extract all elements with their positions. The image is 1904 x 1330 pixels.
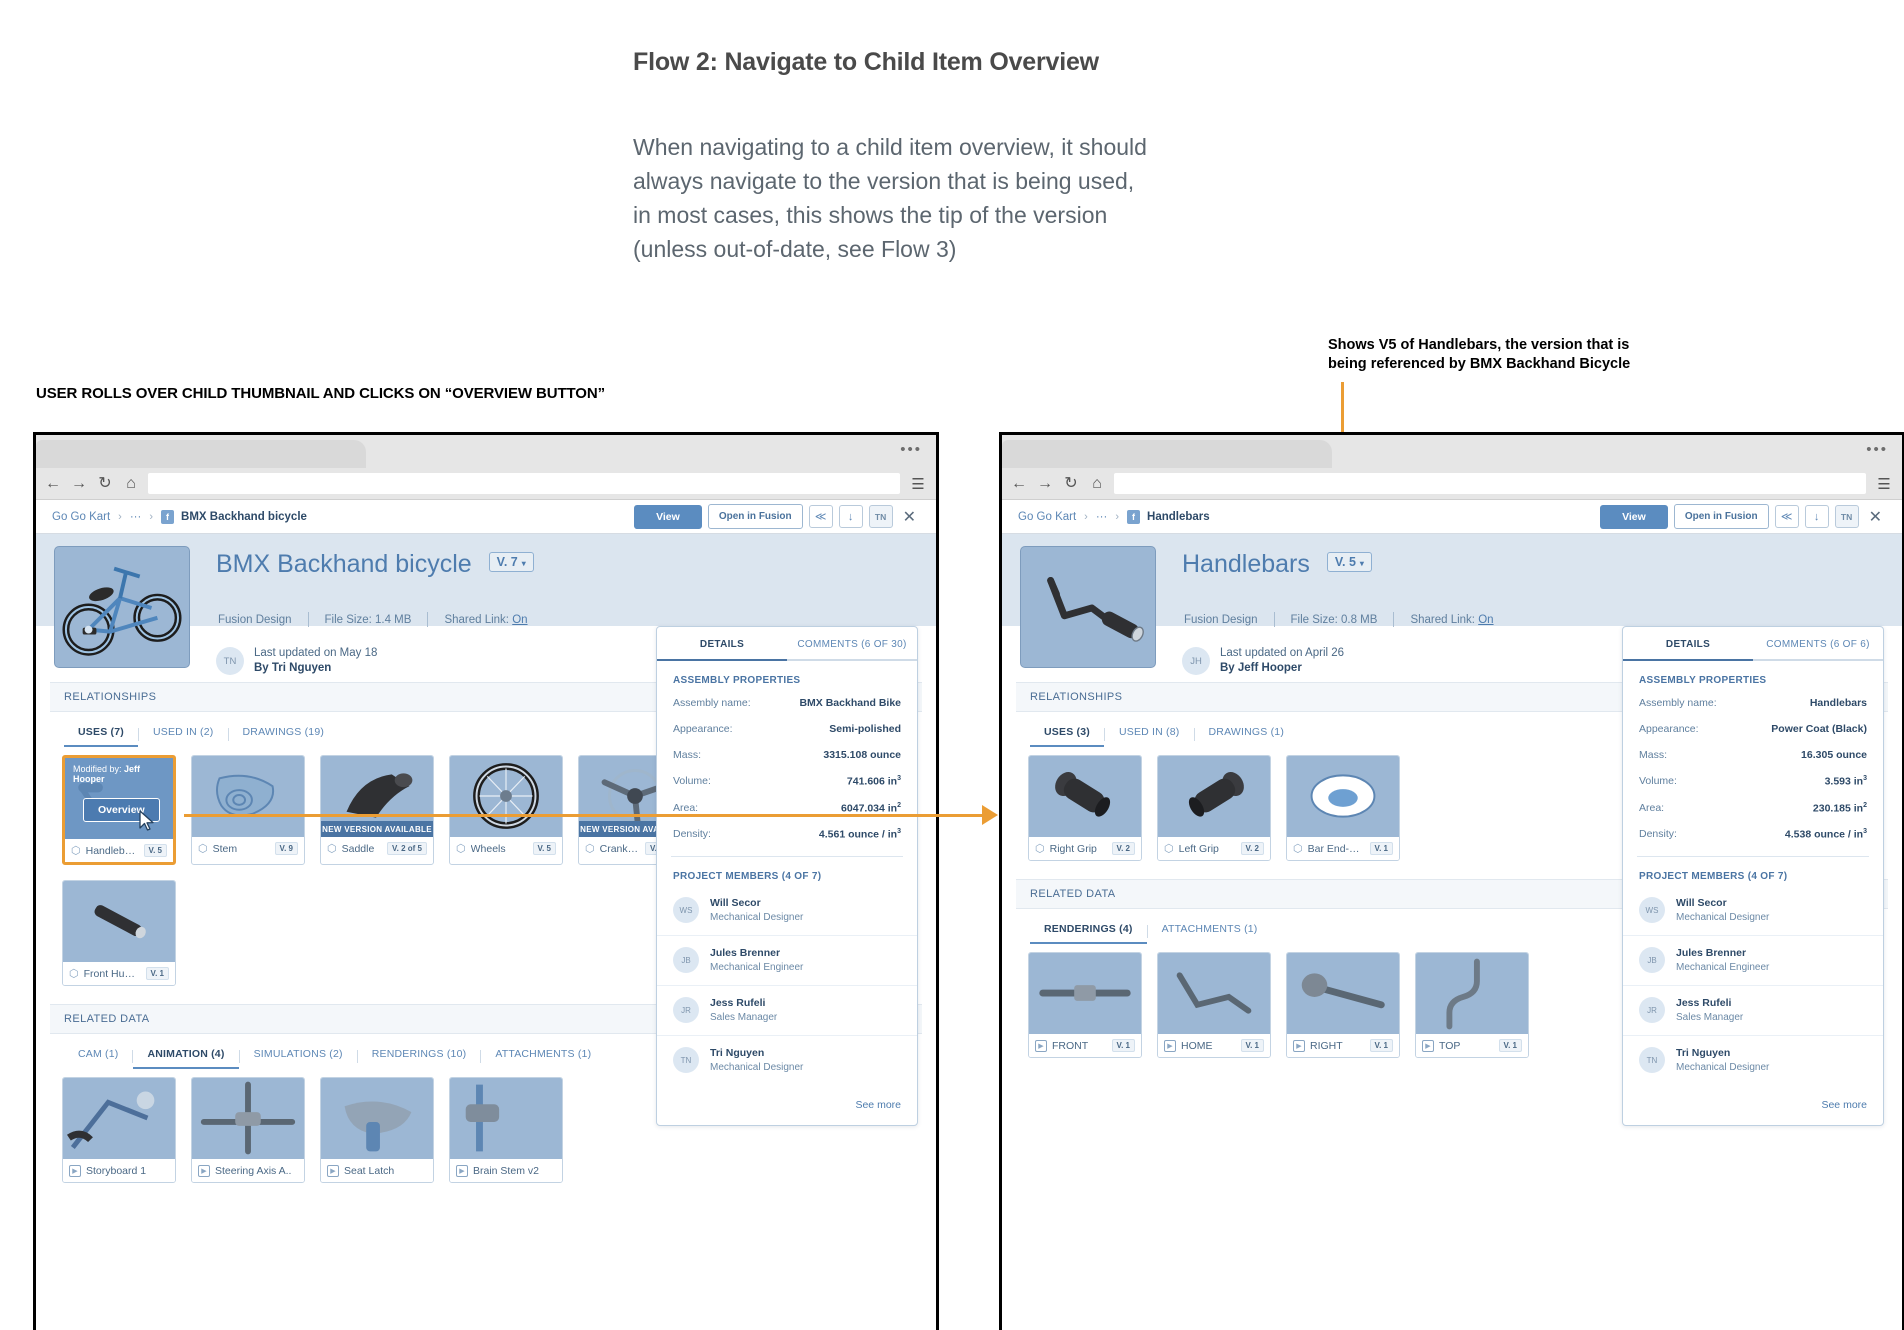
member-name: Tri Nguyen	[710, 1046, 803, 1061]
card-thumbnail	[450, 756, 562, 837]
window-controls-dots[interactable]: •••	[900, 446, 922, 454]
part-illustration	[192, 756, 304, 837]
card-name: Wheels	[471, 843, 528, 855]
document-title-row-right: Handlebars V. 5▾	[1182, 550, 1372, 579]
design-type: Fusion Design	[218, 614, 292, 626]
member-role: Mechanical Engineer	[1676, 961, 1769, 975]
browser-chrome-tabstrip: •••	[36, 435, 936, 468]
cube-icon: ⬡	[1164, 842, 1174, 855]
browser-toolbar-right: ← → ↻ ⌂ ☰	[1002, 468, 1902, 500]
card-name: Left Grip	[1179, 843, 1236, 855]
card-thumbnail	[1158, 756, 1270, 837]
card-version-badge: V. 1	[1112, 1039, 1136, 1052]
breadcrumb-separator: ›	[118, 511, 122, 523]
card-version-badge: V. 1	[1499, 1039, 1523, 1052]
breadcrumb-separator-2: ›	[149, 511, 153, 523]
card-caption: ⬡WheelsV. 5	[450, 837, 562, 860]
page-description: When navigating to a child item overview…	[633, 130, 1147, 266]
card-version-badge: V. 2 of 5	[387, 842, 427, 855]
property-row: Appearance:Power Coat (Black)	[1623, 716, 1883, 742]
address-bar[interactable]	[148, 473, 900, 494]
play-icon: ▶	[69, 1165, 81, 1177]
document-title: BMX Backhand bicycle	[216, 550, 472, 578]
play-icon: ▶	[1164, 1040, 1176, 1052]
property-key: Appearance:	[1639, 723, 1699, 735]
version-label: V. 5	[1335, 555, 1356, 569]
breadcrumb-right: Go Go Kart › ··· › f Handlebars View Ope…	[1002, 500, 1902, 534]
child-card[interactable]: ⬡Right GripV. 2	[1028, 755, 1142, 861]
details-tab[interactable]: COMMENTS (6 OF 6)	[1753, 627, 1883, 659]
download-icon[interactable]: ↓	[839, 505, 863, 528]
card-name: FRONT	[1052, 1040, 1107, 1052]
part-illustration	[192, 1078, 304, 1159]
last-updated-row-right: JH Last updated on April 26 By Jeff Hoop…	[1182, 646, 1344, 676]
forward-icon[interactable]: →	[1032, 476, 1058, 492]
card-version-badge: V. 1	[1241, 1039, 1265, 1052]
browser-toolbar: ← → ↻ ⌂ ☰	[36, 468, 936, 500]
updated-author: By Jeff Hooper	[1220, 662, 1302, 674]
member-role: Sales Manager	[710, 1011, 777, 1025]
version-label: V. 7	[497, 555, 518, 569]
address-bar[interactable]	[1114, 473, 1866, 494]
file-meta-row-right: Fusion Design File Size: 0.8 MB Shared L…	[1184, 612, 1494, 627]
browser-window-right: ••• ← → ↻ ⌂ ☰ Go Go Kart › ··· › f Handl…	[999, 432, 1904, 1330]
close-icon[interactable]: ✕	[899, 507, 920, 527]
details-tabs-right: DETAILSCOMMENTS (6 OF 6)	[1623, 627, 1883, 661]
card-caption: ⬡SaddleV. 2 of 5	[321, 837, 433, 860]
breadcrumb-separator-2: ›	[1115, 511, 1119, 523]
card-caption: ▶HOMEV. 1	[1158, 1034, 1270, 1057]
play-icon: ▶	[1035, 1040, 1047, 1052]
open-in-fusion-button[interactable]: Open in Fusion	[1674, 504, 1769, 529]
home-icon[interactable]: ⌂	[1084, 476, 1110, 492]
card-thumbnail: NEW VERSION AVAILABLE	[321, 756, 433, 837]
project-members-list: WSWill SecorMechanical DesignerJBJules B…	[1623, 886, 1883, 1085]
member-row[interactable]: JBJules BrennerMechanical Engineer	[657, 936, 917, 986]
related-data-label: RELATED DATA	[64, 1013, 149, 1025]
details-tab[interactable]: DETAILS	[1623, 627, 1753, 661]
updated-date: Last updated on May 18	[254, 646, 377, 661]
part-illustration	[1029, 953, 1141, 1034]
card-thumbnail	[63, 1078, 175, 1159]
property-value: 16.305 ounce	[1801, 749, 1867, 761]
page-body: BMX Backhand bicycle V. 7▾ Fusion Design…	[36, 534, 936, 1330]
property-row: Appearance:Semi-polished	[657, 716, 917, 742]
flow-connector-arrow	[982, 805, 998, 825]
fusion-file-icon: f	[161, 510, 174, 524]
card-thumbnail	[192, 756, 304, 837]
child-card[interactable]: ▶TOPV. 1	[1415, 952, 1529, 1058]
part-illustration	[1029, 756, 1141, 837]
relationships-tab[interactable]: USES (3)	[1030, 722, 1104, 747]
browser-tab[interactable]	[36, 440, 366, 468]
card-name: Steering Axis A..	[215, 1165, 298, 1177]
member-name: Jules Brenner	[1676, 946, 1769, 961]
card-name: Front Hub A..	[84, 968, 141, 980]
member-row[interactable]: JRJess RufeliSales Manager	[1623, 986, 1883, 1036]
part-illustration	[63, 1078, 175, 1159]
shared-link-toggle[interactable]: On	[512, 614, 527, 626]
part-illustration	[450, 756, 562, 837]
shared-link-label: Shared Link:	[1410, 614, 1475, 626]
breadcrumb-ellipsis[interactable]: ···	[130, 511, 142, 523]
part-illustration	[1287, 953, 1399, 1034]
property-value: Power Coat (Black)	[1771, 723, 1867, 735]
card-thumbnail	[1029, 756, 1141, 837]
card-name: Seat Latch	[344, 1165, 427, 1177]
property-key: Assembly name:	[673, 697, 751, 709]
card-name: HOME	[1181, 1040, 1236, 1052]
new-version-badge: NEW VERSION AVAILABLE	[321, 821, 433, 837]
child-card[interactable]: ▶RIGHTV. 1	[1286, 952, 1400, 1058]
member-row[interactable]: WSWill SecorMechanical Designer	[1623, 886, 1883, 936]
member-name: Jess Rufeli	[1676, 996, 1743, 1011]
member-name: Will Secor	[710, 896, 803, 911]
cube-icon: ⬡	[456, 842, 466, 855]
reload-icon[interactable]: ↻	[1058, 476, 1084, 492]
member-row[interactable]: TNTri NguyenMechanical Designer	[1623, 1036, 1883, 1085]
fusion-file-icon: f	[1127, 510, 1140, 524]
chevron-down-icon: ▾	[1360, 559, 1364, 568]
card-name: Bar End-Caps	[1308, 843, 1365, 855]
property-value: Semi-polished	[829, 723, 901, 735]
cube-icon: ⬡	[585, 842, 595, 855]
assembly-properties-list: Assembly name:HandlebarsAppearance:Power…	[1623, 690, 1883, 848]
related-data-label: RELATED DATA	[1030, 888, 1115, 900]
related-data-tab[interactable]: CAM (1)	[64, 1044, 132, 1069]
breadcrumb: Go Go Kart › ··· › f BMX Backhand bicycl…	[36, 500, 936, 534]
member-row[interactable]: TNTri NguyenMechanical Designer	[657, 1036, 917, 1085]
member-row[interactable]: JRJess RufeliSales Manager	[657, 986, 917, 1036]
card-name: RIGHT	[1310, 1040, 1365, 1052]
assembly-properties-title: ASSEMBLY PROPERTIES	[1623, 661, 1883, 690]
property-key: Mass:	[673, 749, 701, 761]
part-illustration	[1416, 953, 1528, 1034]
card-caption: ⬡Right GripV. 2	[1029, 837, 1141, 860]
breadcrumb-root[interactable]: Go Go Kart	[1018, 511, 1076, 523]
property-key: Density:	[673, 828, 711, 841]
card-thumbnail	[1416, 953, 1528, 1034]
card-version-badge: V. 2	[1112, 842, 1136, 855]
card-caption: ⬡StemV. 9	[192, 837, 304, 860]
chevron-down-icon: ▾	[522, 559, 526, 568]
card-name: Handlebars	[86, 845, 139, 857]
member-avatar: WS	[1639, 897, 1665, 923]
part-illustration	[1287, 756, 1399, 837]
property-value: 4.538 ounce / in3	[1785, 828, 1867, 841]
breadcrumb-ellipsis[interactable]: ···	[1096, 511, 1108, 523]
property-key: Area:	[673, 802, 698, 815]
browser-menu-icon[interactable]: ☰	[904, 475, 932, 493]
part-illustration	[321, 1078, 433, 1159]
card-caption: ⬡Front Hub A..V. 1	[63, 962, 175, 985]
main-thumbnail[interactable]	[54, 546, 190, 668]
download-icon[interactable]: ↓	[1805, 505, 1829, 528]
card-caption: ▶TOPV. 1	[1416, 1034, 1528, 1057]
updated-avatar: JH	[1182, 647, 1210, 675]
card-thumbnail	[1029, 953, 1141, 1034]
shared-link-label: Shared Link:	[444, 614, 509, 626]
member-role: Mechanical Designer	[1676, 1061, 1769, 1075]
child-card[interactable]: ⬡WheelsV. 5	[449, 755, 563, 865]
relationships-tab[interactable]: DRAWINGS (19)	[229, 722, 339, 747]
child-card[interactable]: ▶Steering Axis A..	[191, 1077, 305, 1183]
cube-icon: ⬡	[71, 844, 81, 857]
property-row: Assembly name:BMX Backhand Bike	[657, 690, 917, 716]
see-more-link[interactable]: See more	[657, 1085, 917, 1125]
modified-by-label: Modified by: Jeff Hooper	[73, 764, 173, 784]
view-button[interactable]: View	[634, 505, 702, 529]
card-name: Crankset	[600, 843, 640, 855]
reload-icon[interactable]: ↻	[92, 476, 118, 492]
member-avatar: JR	[673, 997, 699, 1023]
card-name: Right Grip	[1050, 843, 1107, 855]
page-title: Flow 2: Navigate to Child Item Overview	[633, 48, 1099, 77]
cube-icon: ⬡	[327, 842, 337, 855]
card-name: Stem	[213, 843, 270, 855]
breadcrumb-root[interactable]: Go Go Kart	[52, 511, 110, 523]
card-name: TOP	[1439, 1040, 1494, 1052]
project-members-title: PROJECT MEMBERS (4 OF 7)	[657, 857, 917, 886]
child-card[interactable]: ▶FRONTV. 1	[1028, 952, 1142, 1058]
card-thumbnail: Modified by: Jeff HooperOverview	[65, 758, 173, 839]
related-data-tab[interactable]: SIMULATIONS (2)	[240, 1044, 357, 1069]
flow-connector-line	[184, 814, 990, 817]
member-role: Mechanical Engineer	[710, 961, 803, 975]
child-card[interactable]: NEW VERSION AVAILABLE⬡SaddleV. 2 of 5	[320, 755, 434, 865]
bicycle-illustration	[55, 547, 189, 667]
card-name: Saddle	[342, 843, 382, 855]
member-row[interactable]: JBJules BrennerMechanical Engineer	[1623, 936, 1883, 986]
property-key: Density:	[1639, 828, 1677, 841]
property-row: Volume:3.593 in3	[1623, 768, 1883, 795]
member-avatar: JB	[1639, 947, 1665, 973]
relationships-label: RELATIONSHIPS	[1030, 691, 1122, 703]
card-caption: ▶Seat Latch	[321, 1159, 433, 1182]
card-caption: ▶RIGHTV. 1	[1287, 1034, 1399, 1057]
card-thumbnail	[450, 1078, 562, 1159]
card-caption: ⬡Bar End-CapsV. 1	[1287, 837, 1399, 860]
updated-avatar: TN	[216, 647, 244, 675]
related-data-tab[interactable]: RENDERINGS (4)	[1030, 919, 1147, 944]
property-value: 3315.108 ounce	[823, 749, 901, 761]
browser-tab-right[interactable]	[1002, 440, 1332, 468]
child-card[interactable]: ▶Seat Latch	[320, 1077, 434, 1183]
close-icon[interactable]: ✕	[1865, 507, 1886, 527]
details-tab[interactable]: DETAILS	[657, 627, 787, 661]
avatar[interactable]: TN	[869, 505, 893, 528]
member-avatar: JB	[673, 947, 699, 973]
child-card[interactable]: ⬡Bar End-CapsV. 1	[1286, 755, 1400, 861]
breadcrumb-separator: ›	[1084, 511, 1088, 523]
child-card[interactable]: ⬡Front Hub A..V. 1	[62, 880, 176, 986]
member-avatar: JR	[1639, 997, 1665, 1023]
property-row: Assembly name:Handlebars	[1623, 690, 1883, 716]
member-avatar: TN	[673, 1047, 699, 1073]
property-row: Area:6047.034 in2	[657, 795, 917, 822]
part-illustration	[1158, 756, 1270, 837]
cube-icon: ⬡	[1293, 842, 1303, 855]
card-caption: ▶Steering Axis A..	[192, 1159, 304, 1182]
card-version-badge: V. 1	[1370, 842, 1394, 855]
related-data-tab[interactable]: ANIMATION (4)	[133, 1044, 238, 1069]
document-title-row: BMX Backhand bicycle V. 7▾	[216, 550, 534, 579]
card-version-badge: V. 1	[1370, 1039, 1394, 1052]
cube-icon: ⬡	[69, 967, 79, 980]
file-size: File Size: 1.4 MB	[325, 614, 412, 626]
property-row: Mass:3315.108 ounce	[657, 742, 917, 768]
view-button[interactable]: View	[1600, 505, 1668, 529]
browser-chrome-tabstrip-right: •••	[1002, 435, 1902, 468]
property-value: 4.561 ounce / in3	[819, 828, 901, 841]
child-card[interactable]: ▶Storyboard 1	[62, 1077, 176, 1183]
property-row: Density:4.561 ounce / in3	[657, 821, 917, 848]
updated-date: Last updated on April 26	[1220, 646, 1344, 661]
cube-icon: ⬡	[1035, 842, 1045, 855]
version-selector[interactable]: V. 5▾	[1327, 552, 1372, 572]
relationships-label: RELATIONSHIPS	[64, 691, 156, 703]
card-version-badge: V. 9	[275, 842, 299, 855]
relationships-tab[interactable]: USED IN (2)	[139, 722, 228, 747]
property-value: 3.593 in3	[1825, 775, 1867, 788]
file-size: File Size: 0.8 MB	[1291, 614, 1378, 626]
child-card[interactable]: ⬡StemV. 9	[191, 755, 305, 865]
child-card-hovered[interactable]: Modified by: Jeff HooperOverview⬡Handleb…	[62, 755, 176, 865]
property-key: Assembly name:	[1639, 697, 1717, 709]
property-key: Mass:	[1639, 749, 1667, 761]
back-icon[interactable]: ←	[1006, 476, 1032, 492]
mouse-cursor-icon	[139, 810, 155, 832]
project-members-list: WSWill SecorMechanical DesignerJBJules B…	[657, 886, 917, 1085]
last-updated-row: TN Last updated on May 18 By Tri Nguyen	[216, 646, 377, 676]
breadcrumb-current: Handlebars	[1147, 511, 1210, 523]
browser-menu-icon[interactable]: ☰	[1870, 475, 1898, 493]
card-name: Storyboard 1	[86, 1165, 169, 1177]
member-name: Tri Nguyen	[1676, 1046, 1769, 1061]
related-data-tab[interactable]: ATTACHMENTS (1)	[1148, 919, 1272, 944]
property-row: Volume:741.606 in3	[657, 768, 917, 795]
assembly-properties-title: ASSEMBLY PROPERTIES	[657, 661, 917, 690]
related-data-tab[interactable]: ATTACHMENTS (1)	[481, 1044, 605, 1069]
property-value: 6047.034 in2	[841, 802, 901, 815]
property-row: Area:230.185 in2	[1623, 795, 1883, 822]
version-selector[interactable]: V. 7▾	[489, 552, 534, 572]
card-caption: ▶Storyboard 1	[63, 1159, 175, 1182]
property-row: Density:4.538 ounce / in3	[1623, 821, 1883, 848]
relationships-tab[interactable]: DRAWINGS (1)	[1195, 722, 1299, 747]
document-title: Handlebars	[1182, 550, 1310, 578]
details-tabs: DETAILSCOMMENTS (6 OF 30)	[657, 627, 917, 661]
window-controls-dots-right[interactable]: •••	[1866, 446, 1888, 454]
member-role: Mechanical Designer	[1676, 911, 1769, 925]
property-key: Volume:	[1639, 775, 1677, 788]
card-thumbnail	[1158, 953, 1270, 1034]
property-value: BMX Backhand Bike	[799, 697, 901, 709]
member-role: Sales Manager	[1676, 1011, 1743, 1025]
property-key: Volume:	[673, 775, 711, 788]
share-icon[interactable]: ≪	[809, 505, 833, 528]
member-row[interactable]: WSWill SecorMechanical Designer	[657, 886, 917, 936]
member-role: Mechanical Designer	[710, 911, 803, 925]
member-name: Jules Brenner	[710, 946, 803, 961]
property-key: Appearance:	[673, 723, 733, 735]
relationships-tab[interactable]: USED IN (8)	[1105, 722, 1194, 747]
project-members-title: PROJECT MEMBERS (4 OF 7)	[1623, 857, 1883, 886]
card-caption: ⬡HandlebarsV. 5	[65, 839, 173, 862]
page-body-right: Handlebars V. 5▾ Fusion Design File Size…	[1002, 534, 1902, 1330]
card-caption: ⬡Left GripV. 2	[1158, 837, 1270, 860]
design-type: Fusion Design	[1184, 614, 1258, 626]
card-caption: ▶FRONTV. 1	[1029, 1034, 1141, 1057]
related-data-tab[interactable]: RENDERINGS (10)	[358, 1044, 481, 1069]
forward-icon[interactable]: →	[66, 476, 92, 492]
main-thumbnail-right[interactable]	[1020, 546, 1156, 668]
assembly-properties-list: Assembly name:BMX Backhand BikeAppearanc…	[657, 690, 917, 848]
play-icon: ▶	[1293, 1040, 1305, 1052]
details-panel: DETAILSCOMMENTS (6 OF 30) ASSEMBLY PROPE…	[656, 626, 918, 1126]
home-icon[interactable]: ⌂	[118, 476, 144, 492]
shared-link-toggle[interactable]: On	[1478, 614, 1493, 626]
property-row: Mass:16.305 ounce	[1623, 742, 1883, 768]
annotation-right: Shows V5 of Handlebars, the version that…	[1328, 336, 1630, 374]
card-caption: ▶Brain Stem v2	[450, 1159, 562, 1182]
see-more-link[interactable]: See more	[1623, 1085, 1883, 1125]
play-icon: ▶	[327, 1165, 339, 1177]
child-card[interactable]: ▶HOMEV. 1	[1157, 952, 1271, 1058]
member-avatar: TN	[1639, 1047, 1665, 1073]
property-key: Area:	[1639, 802, 1664, 815]
member-name: Jess Rufeli	[710, 996, 777, 1011]
property-value: Handlebars	[1810, 697, 1867, 709]
card-thumbnail	[321, 1078, 433, 1159]
cube-icon: ⬡	[198, 842, 208, 855]
card-thumbnail	[1287, 756, 1399, 837]
details-tab[interactable]: COMMENTS (6 OF 30)	[787, 627, 917, 659]
play-icon: ▶	[1422, 1040, 1434, 1052]
relationships-tab[interactable]: USES (7)	[64, 722, 138, 747]
card-version-badge: V. 2	[1241, 842, 1265, 855]
handlebars-illustration	[1021, 547, 1155, 667]
file-meta-row: Fusion Design File Size: 1.4 MB Shared L…	[218, 612, 528, 627]
child-card[interactable]: ▶Brain Stem v2	[449, 1077, 563, 1183]
browser-window-left: ••• ← → ↻ ⌂ ☰ Go Go Kart › ··· › f BMX B…	[33, 432, 939, 1330]
back-icon[interactable]: ←	[40, 476, 66, 492]
annotation-left: USER ROLLS OVER CHILD THUMBNAIL AND CLIC…	[36, 385, 605, 402]
card-version-badge: V. 1	[146, 967, 170, 980]
property-value: 230.185 in2	[1813, 802, 1867, 815]
property-value: 741.606 in3	[847, 775, 901, 788]
card-thumbnail	[63, 881, 175, 962]
card-thumbnail	[1287, 953, 1399, 1034]
card-name: Brain Stem v2	[473, 1165, 556, 1177]
card-thumbnail	[192, 1078, 304, 1159]
card-version-badge: V. 5	[533, 842, 557, 855]
member-name: Will Secor	[1676, 896, 1769, 911]
breadcrumb-current: BMX Backhand bicycle	[181, 511, 307, 523]
part-illustration	[63, 881, 175, 962]
member-role: Mechanical Designer	[710, 1061, 803, 1075]
avatar[interactable]: TN	[1835, 505, 1859, 528]
part-illustration	[1158, 953, 1270, 1034]
part-illustration	[450, 1078, 562, 1159]
open-in-fusion-button[interactable]: Open in Fusion	[708, 504, 803, 529]
play-icon: ▶	[198, 1165, 210, 1177]
member-avatar: WS	[673, 897, 699, 923]
card-version-badge: V. 5	[144, 844, 168, 857]
updated-author: By Tri Nguyen	[254, 662, 331, 674]
child-card[interactable]: ⬡Left GripV. 2	[1157, 755, 1271, 861]
share-icon[interactable]: ≪	[1775, 505, 1799, 528]
